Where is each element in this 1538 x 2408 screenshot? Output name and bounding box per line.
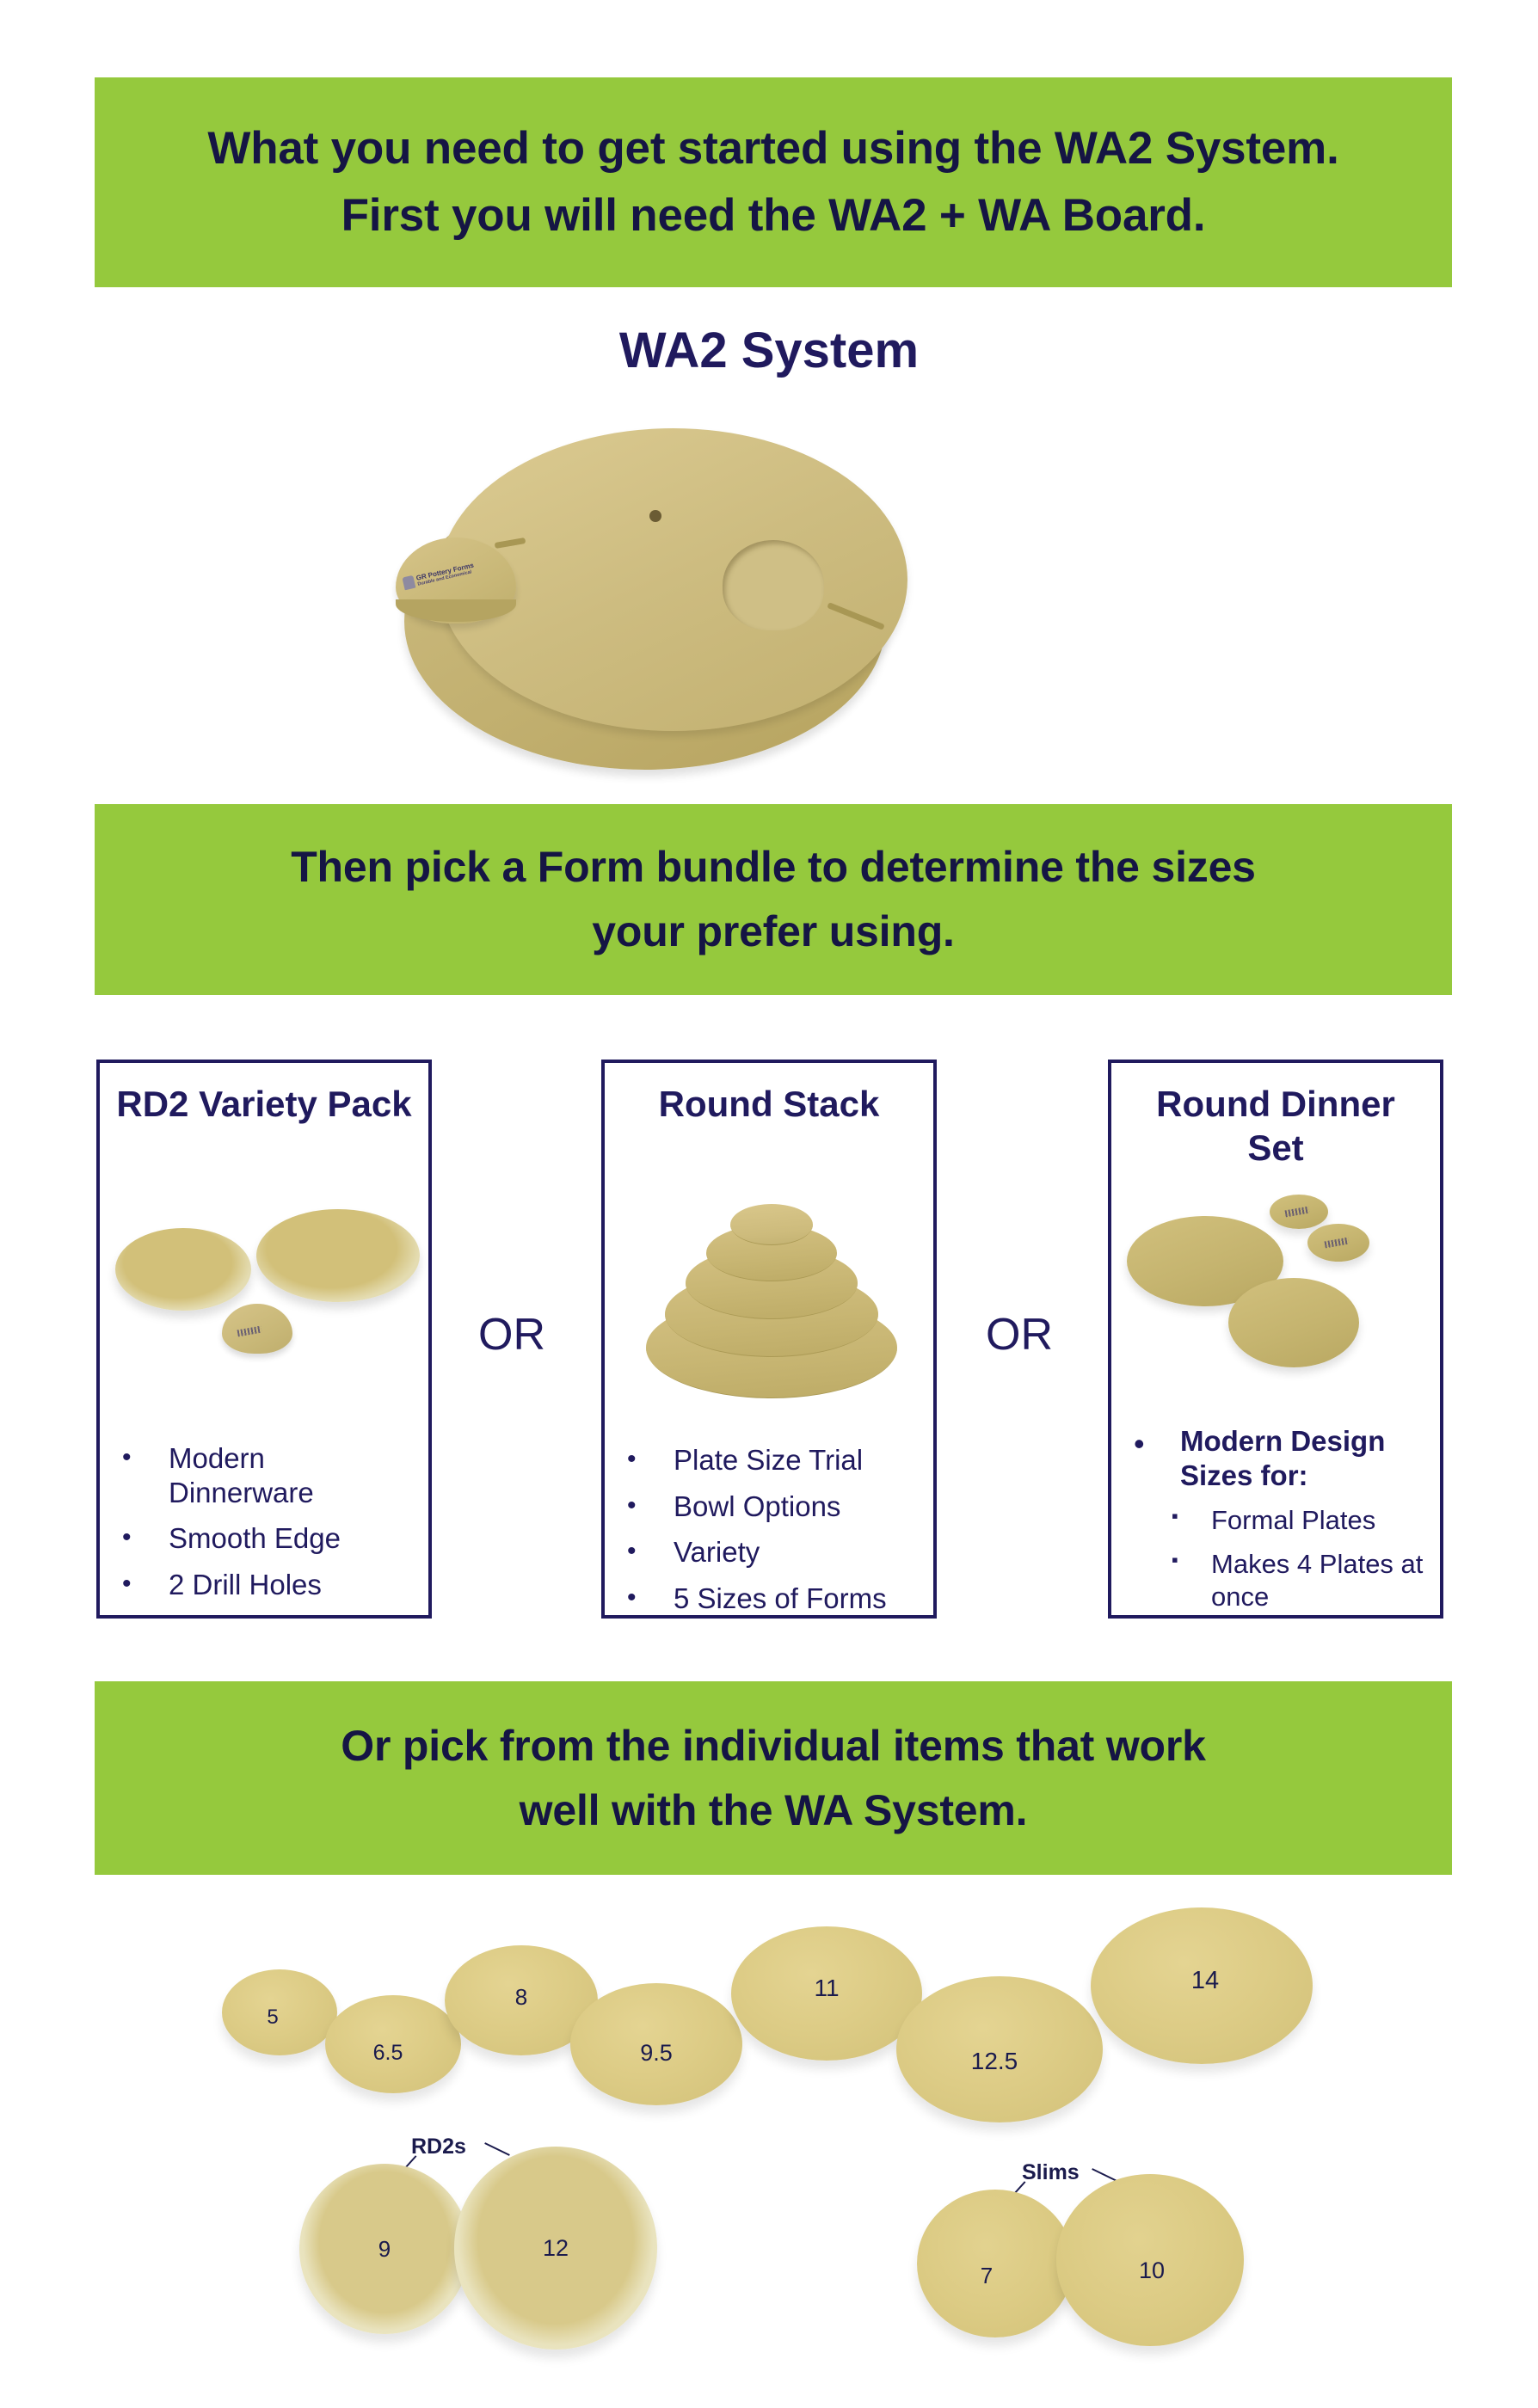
bullet-text: Formal Plates [1211, 1504, 1428, 1536]
size-label: 7 [981, 2263, 993, 2289]
rd2-variety-pack-art [100, 1192, 428, 1424]
banner-bundles-line-1: Then pick a Form bundle to determine the… [291, 835, 1256, 900]
rd2-size-disc[interactable]: 9 [299, 2164, 470, 2334]
bullet-marker: • [627, 1490, 674, 1522]
size-label: 12 [543, 2235, 569, 2262]
size-label: 8 [515, 1984, 527, 2011]
bullet-item: • Plate Size Trial [627, 1443, 921, 1477]
rd2-disc-small [115, 1228, 251, 1311]
bullet-item: ▪ Formal Plates [1134, 1504, 1428, 1536]
bullet-marker: ▪ [1172, 1504, 1211, 1528]
card-round-stack[interactable]: Round Stack • Plate Size Trial • Bowl Op… [601, 1060, 937, 1619]
gr-logo-mark [1325, 1238, 1350, 1249]
card-title: Round Stack [617, 1082, 921, 1126]
bullet-item: • Smooth Edge [122, 1521, 416, 1556]
board-cutout [723, 540, 824, 630]
board-slot-right [827, 602, 885, 630]
card-title: RD2 Variety Pack [112, 1082, 416, 1126]
size-label: 12.5 [971, 2048, 1018, 2075]
bullet-text: Makes 4 Plates at once [1211, 1548, 1428, 1612]
bullet-text: Plate Size Trial [674, 1443, 921, 1477]
bullet-text: Modern Dinnerware [169, 1441, 416, 1509]
bullet-marker: • [122, 1521, 169, 1554]
size-label: 10 [1139, 2257, 1165, 2284]
size-label: 9 [378, 2236, 391, 2263]
banner-individual-items: Or pick from the individual items that w… [95, 1681, 1452, 1875]
slim-size-disc[interactable]: 10 [1056, 2174, 1244, 2346]
size-disc[interactable]: 14 [1091, 1907, 1313, 2064]
rd2-size-disc[interactable]: 12 [454, 2147, 657, 2350]
individual-sizes-showcase: 5 6.5 8 9.5 11 12.5 14 RD2s 9 12 [0, 1883, 1538, 2408]
bullet-text: 2 Drill Holes [169, 1568, 416, 1602]
size-disc[interactable]: 6.5 [325, 1995, 461, 2093]
bullet-item: ▪ Makes 4 Plates at once [1134, 1548, 1428, 1612]
rd2-disc-large [256, 1209, 420, 1302]
dinner-plate-medium [1228, 1278, 1359, 1367]
bullet-marker: ▪ [1172, 1548, 1211, 1572]
card-bullet-list: • Plate Size Trial • Bowl Options • Vari… [627, 1443, 921, 1627]
bullet-text: 5 Sizes of Forms [674, 1582, 921, 1616]
card-bullet-list: • Modern Design Sizes for: ▪ Formal Plat… [1134, 1424, 1428, 1625]
slims-label: Slims [1022, 2160, 1080, 2185]
banner-bundles-line-2: your prefer using. [592, 900, 954, 964]
bullet-marker: • [627, 1443, 674, 1476]
size-disc[interactable]: 11 [731, 1926, 922, 2061]
bullet-text: Bowl Options [674, 1490, 921, 1524]
gr-logo-mark [237, 1326, 262, 1337]
bullet-item: • Modern Dinnerware [122, 1441, 416, 1509]
leader-line-right [484, 2142, 510, 2156]
or-separator-1: OR [478, 1309, 545, 1361]
leader-line-right [1092, 2168, 1117, 2182]
size-disc[interactable]: 12.5 [896, 1976, 1103, 2122]
card-title: Round Dinner Set [1123, 1082, 1428, 1170]
bullet-text: Variety [674, 1535, 921, 1569]
bullet-item: • Modern Design Sizes for: [1134, 1424, 1428, 1492]
banner-intro-line-2: First you will need the WA2 + WA Board. [341, 182, 1206, 249]
size-label: 5 [267, 2006, 278, 2030]
size-disc[interactable]: 5 [222, 1969, 337, 2055]
board-drill-hole [649, 510, 661, 522]
rd2s-label: RD2s [411, 2135, 466, 2159]
round-stack-art [605, 1175, 933, 1433]
banner-individual-line-2: well with the WA System. [520, 1778, 1028, 1843]
wa2-system-title: WA2 System [0, 322, 1538, 379]
bullet-item: • Bowl Options [627, 1490, 921, 1524]
size-label: 6.5 [373, 2041, 403, 2066]
stack-layer-1 [730, 1204, 813, 1245]
bullet-marker: • [627, 1582, 674, 1614]
bullet-text: Modern Design Sizes for: [1180, 1424, 1428, 1492]
bullet-marker: • [1134, 1424, 1180, 1463]
card-bullet-list: • Modern Dinnerware • Smooth Edge • 2 Dr… [122, 1441, 416, 1613]
bullet-item: • 2 Drill Holes [122, 1568, 416, 1602]
size-disc[interactable]: 9.5 [570, 1983, 742, 2105]
wa2-system-photo: GR Pottery Forms Durable and Economical … [361, 413, 1135, 774]
dinner-plate-small-a [1270, 1195, 1328, 1229]
card-round-dinner-set[interactable]: Round Dinner Set • Modern Design Sizes f… [1108, 1060, 1443, 1619]
infographic-page: What you need to get started using the W… [0, 0, 1538, 2408]
round-dinner-set-art [1111, 1183, 1440, 1441]
bullet-item: • Variety [627, 1535, 921, 1569]
bullet-marker: • [122, 1441, 169, 1474]
banner-bundles: Then pick a Form bundle to determine the… [95, 804, 1452, 995]
banner-intro: What you need to get started using the W… [95, 77, 1452, 287]
dinner-plate-small-b [1307, 1224, 1369, 1262]
size-label: 9.5 [640, 2040, 673, 2067]
size-label: 11 [814, 1975, 839, 2002]
slim-size-disc[interactable]: 7 [917, 2190, 1074, 2337]
bundle-cards-row: RD2 Variety Pack • Modern Dinnerware • S… [0, 1060, 1538, 1619]
card-rd2-variety-pack[interactable]: RD2 Variety Pack • Modern Dinnerware • S… [96, 1060, 432, 1619]
bullet-marker: • [122, 1568, 169, 1600]
bullet-marker: • [627, 1535, 674, 1568]
size-label: 14 [1191, 1967, 1219, 1995]
banner-intro-line-1: What you need to get started using the W… [207, 115, 1338, 182]
or-separator-2: OR [986, 1309, 1053, 1361]
banner-individual-line-1: Or pick from the individual items that w… [341, 1714, 1205, 1778]
bullet-text: Smooth Edge [169, 1521, 416, 1556]
gr-logo-mark [1285, 1207, 1310, 1218]
bullet-item: • 5 Sizes of Forms [627, 1582, 921, 1616]
rd-small-form [222, 1304, 292, 1354]
